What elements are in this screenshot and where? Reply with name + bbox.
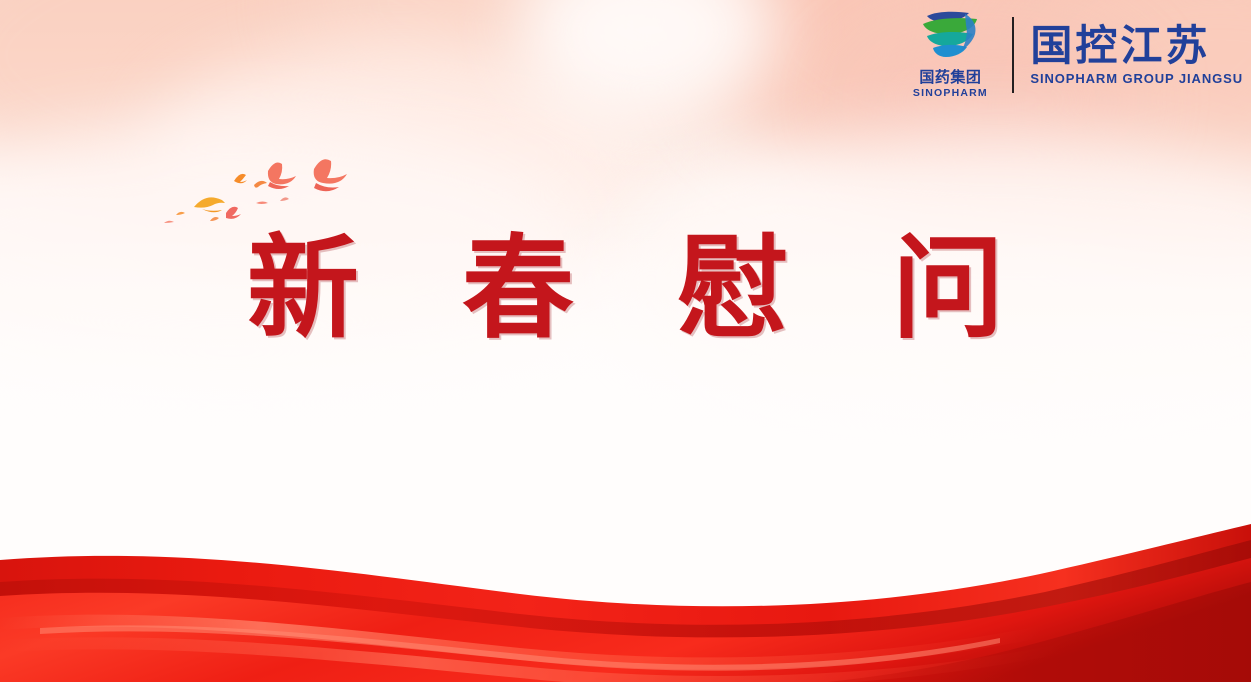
- sinopharm-cn-label: 国药集团: [919, 70, 981, 87]
- poster-canvas: 国药集团 SINOPHARM 国控江苏 SINOPHARM GROUP JIAN…: [0, 0, 1251, 682]
- jiangsu-cn-label: 国控江苏: [1030, 24, 1243, 68]
- logo-lockup: 国药集团 SINOPHARM 国控江苏 SINOPHARM GROUP JIAN…: [902, 6, 1243, 104]
- jiangsu-logo: 国控江苏 SINOPHARM GROUP JIANGSU: [1030, 24, 1243, 86]
- sinopharm-mark-icon: [913, 10, 987, 68]
- sinopharm-logo: 国药集团 SINOPHARM: [902, 10, 998, 99]
- red-silk-ribbon-icon: [0, 522, 1251, 682]
- jiangsu-en-label: SINOPHARM GROUP JIANGSU: [1030, 72, 1243, 86]
- logo-divider: [1012, 17, 1014, 93]
- sinopharm-en-label: SINOPHARM: [913, 88, 988, 100]
- page-title: 新 春 慰 问: [0, 228, 1251, 351]
